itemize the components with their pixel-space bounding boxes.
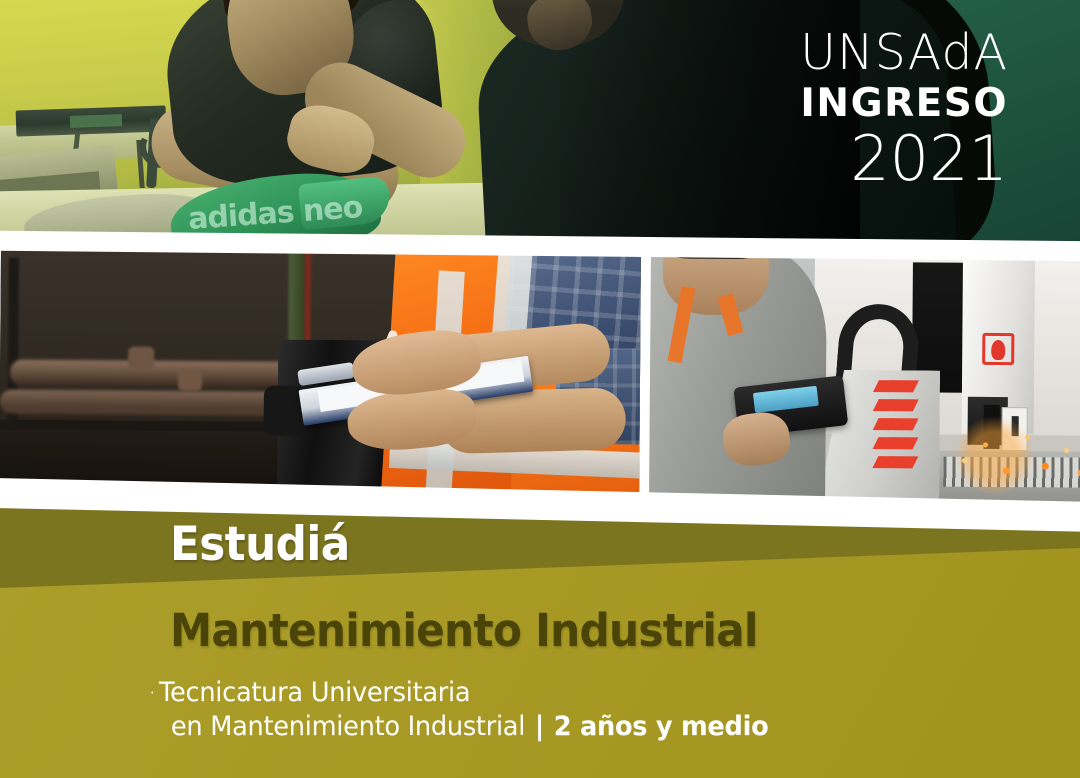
career-duration: 2 años y medio	[554, 711, 769, 742]
sparks	[949, 413, 1080, 494]
bullet-dot: ·	[150, 684, 154, 702]
institution-name: UNSAdA	[800, 28, 1008, 77]
pipe-valve-upper	[128, 346, 154, 370]
degree-separator: |	[533, 711, 546, 742]
pipe-valve-lower	[178, 369, 202, 391]
machine-brand-logo	[982, 333, 1014, 365]
degree-line-2-row: en Mantenimiento Industrial | 2 años y m…	[171, 710, 769, 744]
cta-estudia: Estudiá	[170, 517, 350, 572]
career-title: Mantenimiento Industrial	[170, 604, 758, 657]
program-label: INGRESO	[800, 84, 1008, 123]
warning-stripes	[875, 380, 916, 488]
cnc-machine-photo	[649, 252, 1080, 511]
poster-root: adidas neo UNSAdA INGRESO 2021	[0, 0, 1080, 778]
middle-photo-row	[0, 248, 1080, 514]
career-degree-block: ·Tecnicatura Universitaria en Mantenimie…	[150, 676, 768, 744]
binder-label	[70, 114, 122, 128]
brand-block: UNSAdA INGRESO 2021	[800, 28, 1008, 190]
classroom-workshop-photo: adidas neo UNSAdA INGRESO 2021	[0, 0, 1080, 243]
degree-line-1: Tecnicatura Universitaria	[159, 677, 470, 708]
degree-line-2: en Mantenimiento Industrial	[171, 711, 525, 742]
year-label: 2021	[800, 128, 1008, 190]
pipes-and-clipboard-photo	[0, 247, 641, 508]
